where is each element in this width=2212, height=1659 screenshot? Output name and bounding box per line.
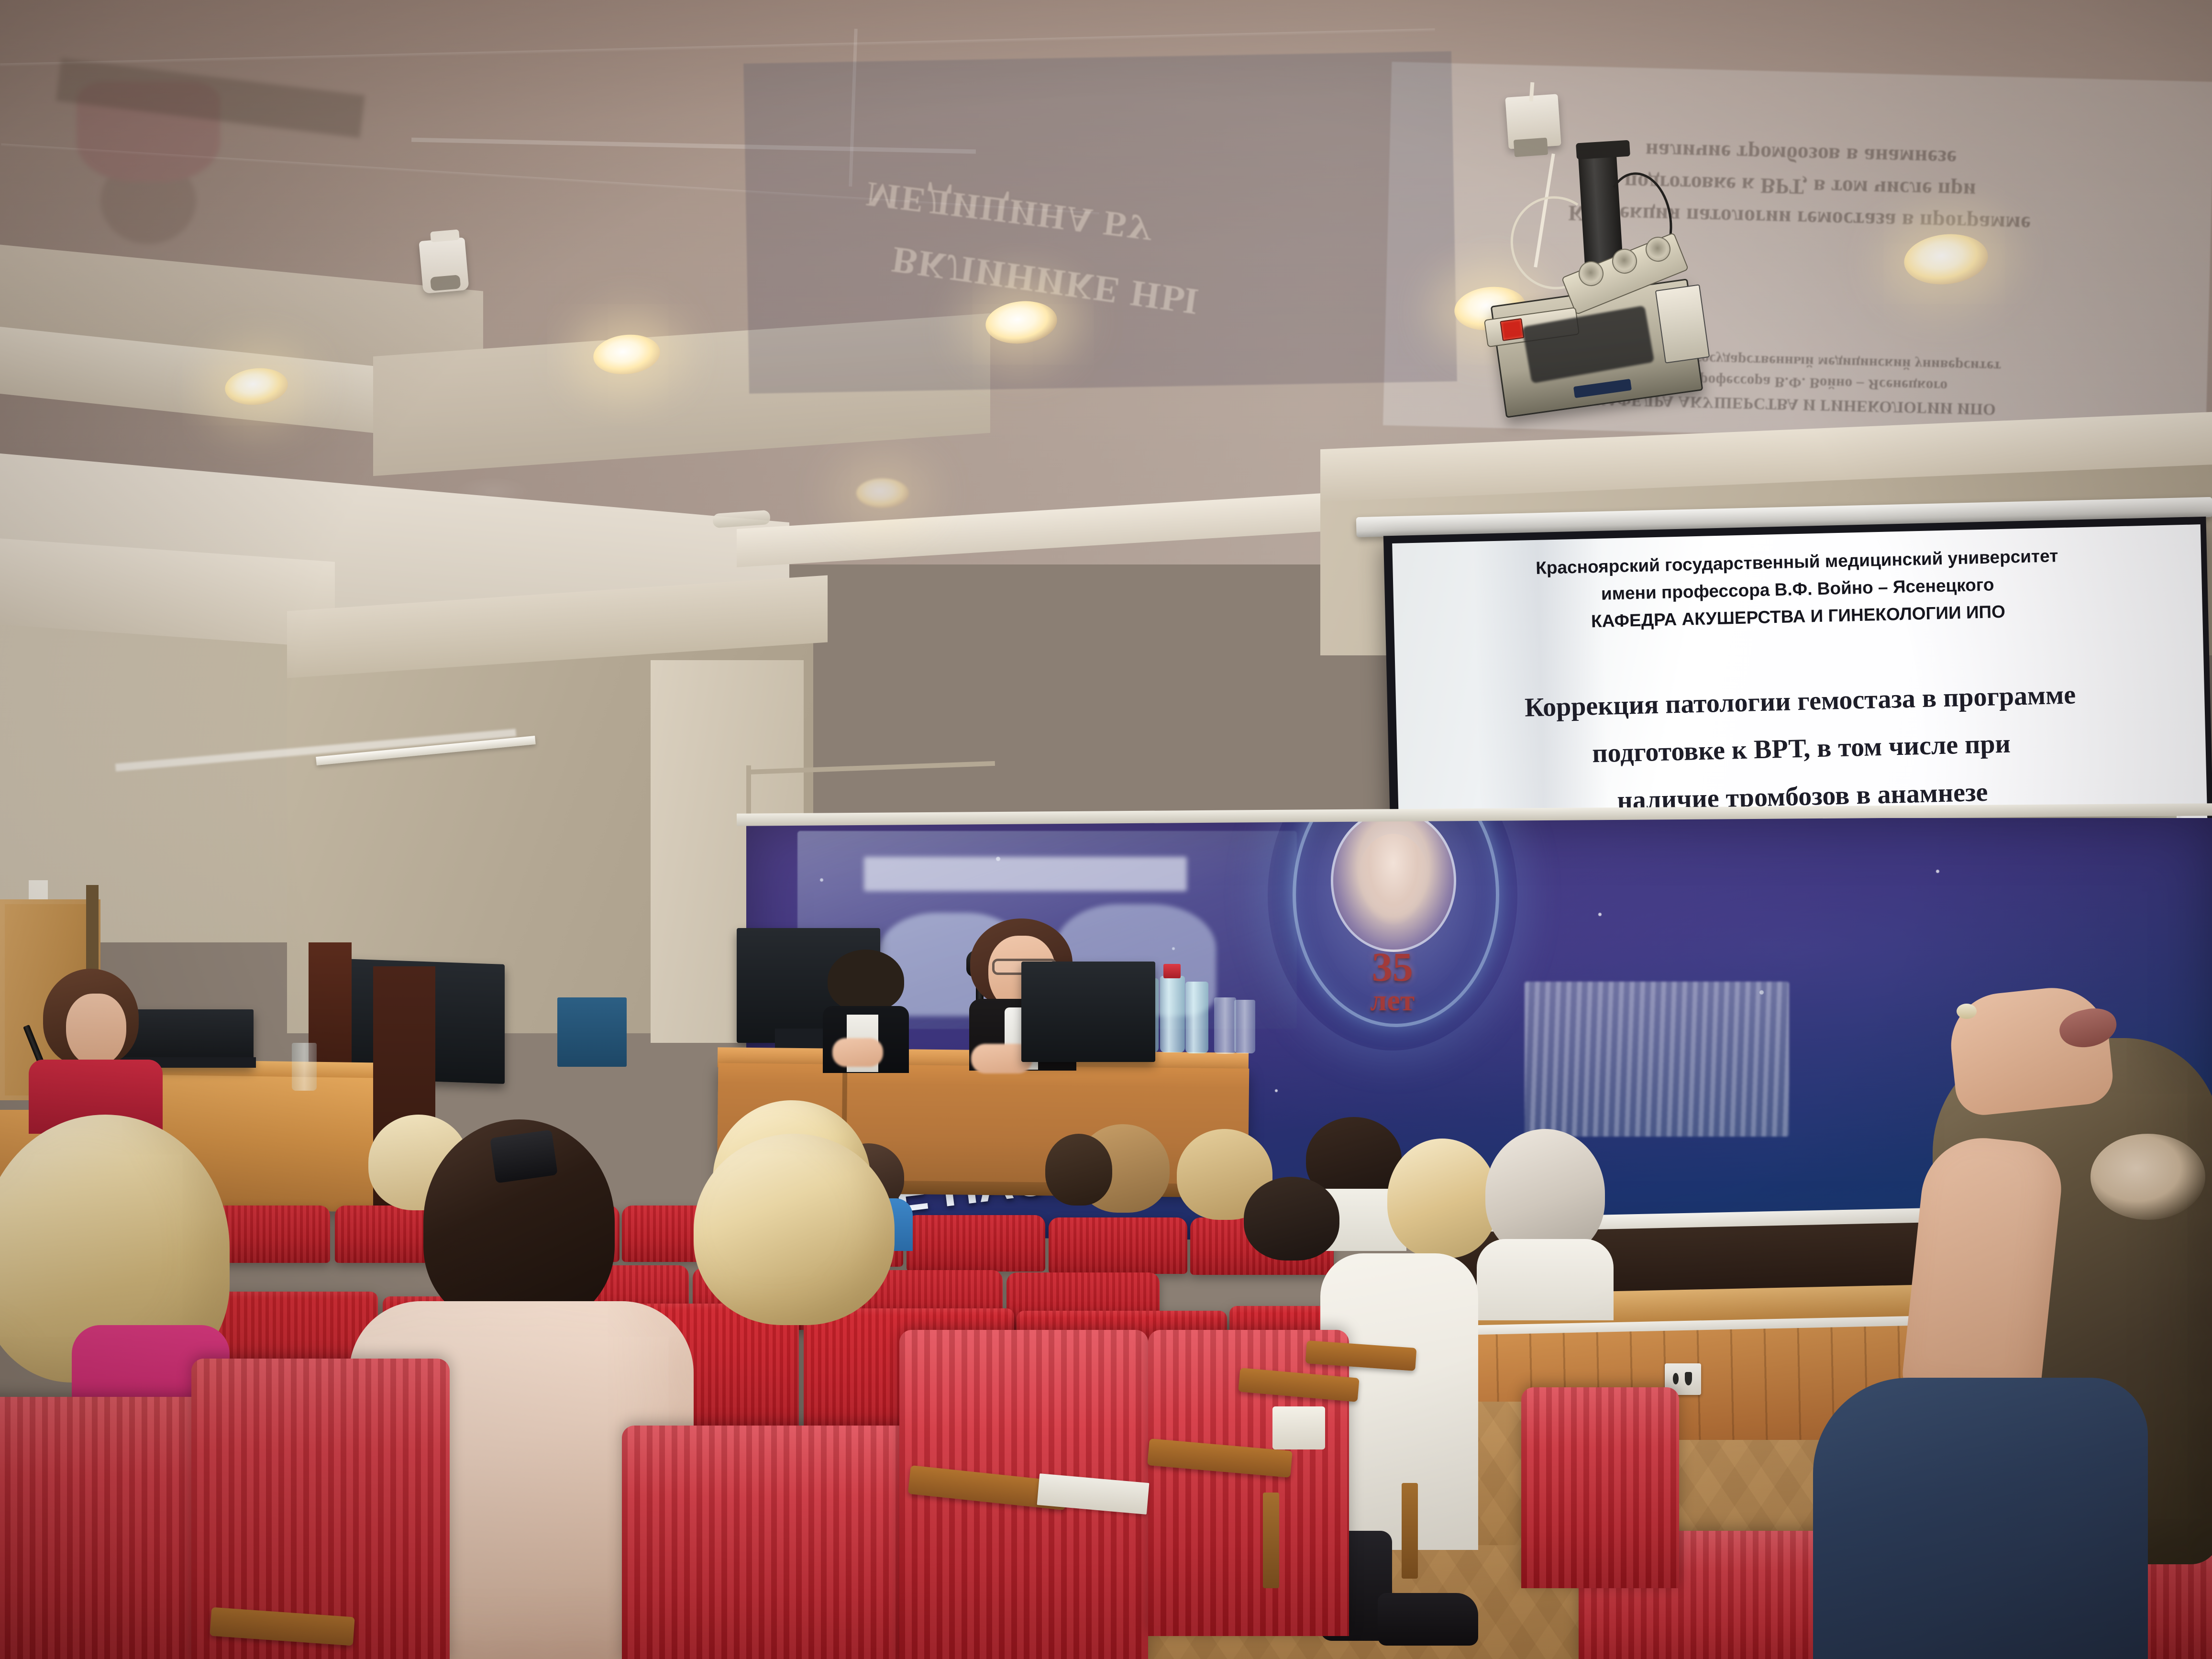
smoke-detector-icon: [419, 237, 469, 294]
water-bottle: [1160, 976, 1185, 1052]
person-shoe: [1378, 1593, 1478, 1646]
stage-second-hands: [832, 1038, 883, 1067]
photograph-root: Коррекция патологии гемостаза в программ…: [0, 0, 2212, 1659]
camera-lens-icon: [1514, 138, 1548, 157]
power-switch[interactable]: [1500, 318, 1524, 341]
ceiling-lamp: [856, 478, 909, 508]
hair-tie: [2090, 1134, 2205, 1220]
bottle-cap: [1163, 964, 1181, 978]
water-bottle: [1185, 982, 1208, 1053]
monitor-right: [1021, 962, 1155, 1062]
banner-photo-detail: [864, 857, 1187, 891]
person-hand: [1946, 982, 2115, 1117]
hair-clip: [490, 1129, 558, 1183]
drinking-glass: [1234, 1000, 1255, 1053]
ceiling-lamp-rim: [454, 478, 531, 507]
anniversary-word: лет: [1319, 984, 1466, 1018]
slide-title: Коррекция патологии гемостаза в программ…: [1428, 674, 2175, 824]
monitor-blue: [557, 997, 627, 1067]
slide-title-line-1: Коррекция патологии гемостаза в программ…: [1428, 674, 2172, 729]
audience-person: [1045, 1134, 1112, 1215]
audience-person-blonde-short: [694, 1134, 895, 1382]
chair-foreground[interactable]: [0, 1397, 210, 1659]
chair-far[interactable]: [907, 1215, 1045, 1272]
chair-foreground[interactable]: [622, 1426, 918, 1659]
ceiling-reflection-banner: ВКЛИНИКЕ НЫ МЕДИЦИНА БУ: [743, 51, 1457, 394]
slide-title-line-2: подготовке к ВРТ, в том числе при: [1429, 721, 2173, 777]
audience-person-foreground-right: [1813, 981, 2212, 1659]
chair-leg: [1263, 1493, 1279, 1588]
drinking-glass: [292, 1043, 317, 1091]
person-navy-top: [1813, 1378, 2148, 1659]
ring-icon: [1957, 1004, 1977, 1019]
projector-ceiling-plate: [1576, 140, 1630, 160]
audience-person-right: [1485, 1129, 1605, 1287]
chair-leg: [1402, 1483, 1418, 1579]
speaker-face: [66, 994, 126, 1066]
hands-cradling-icon: [1357, 834, 1429, 925]
person-arm: [1900, 1132, 2066, 1413]
banner-photo-group: [1525, 982, 1789, 1137]
seat-number-plate: [1272, 1406, 1325, 1449]
anniversary-logo-badge: [1331, 809, 1456, 952]
speaker-at-podium: [29, 969, 163, 1127]
chair-foreground-right2[interactable]: [1521, 1387, 1679, 1588]
slide-header: Красноярский государственный медицинский…: [1441, 542, 2154, 635]
drinking-glass: [1214, 997, 1236, 1054]
reflected-banner-word-2: МЕДИЦИНА БУ: [864, 173, 1157, 249]
